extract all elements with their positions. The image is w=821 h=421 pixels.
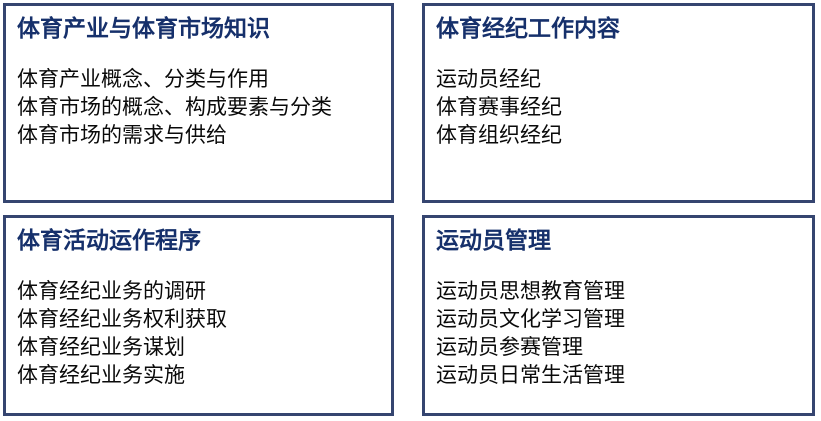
card-line: 体育经纪业务实施 [17,361,385,389]
card-grid: 体育产业与体育市场知识 体育产业概念、分类与作用 体育市场的概念、构成要素与分类… [0,0,821,421]
card-line-list: 运动员经纪 体育赛事经纪 体育组织经纪 [436,65,806,149]
card-title: 运动员管理 [436,226,551,256]
card-line: 体育经纪业务权利获取 [17,305,385,333]
card-line: 体育市场的需求与供给 [17,121,385,149]
card-line: 体育产业概念、分类与作用 [17,65,385,93]
card-line: 运动员文化学习管理 [436,305,806,333]
card-line-list: 运动员思想教育管理 运动员文化学习管理 运动员参赛管理 运动员日常生活管理 [436,277,806,389]
card-line: 体育市场的概念、构成要素与分类 [17,93,385,121]
card-line: 体育赛事经纪 [436,93,806,121]
card-line: 体育经纪业务的调研 [17,277,385,305]
card-title: 体育经纪工作内容 [436,14,620,44]
card-line: 运动员思想教育管理 [436,277,806,305]
card-line: 体育经纪业务谋划 [17,333,385,361]
card-line: 运动员经纪 [436,65,806,93]
card-line-list: 体育产业概念、分类与作用 体育市场的概念、构成要素与分类 体育市场的需求与供给 [17,65,385,149]
card-sports-industry-market-knowledge[interactable]: 体育产业与体育市场知识 体育产业概念、分类与作用 体育市场的概念、构成要素与分类… [3,3,394,203]
card-line: 运动员日常生活管理 [436,361,806,389]
card-line: 运动员参赛管理 [436,333,806,361]
card-title: 体育产业与体育市场知识 [17,14,270,44]
card-sports-broker-work-content[interactable]: 体育经纪工作内容 运动员经纪 体育赛事经纪 体育组织经纪 [422,3,815,203]
card-sports-activity-operation-procedure[interactable]: 体育活动运作程序 体育经纪业务的调研 体育经纪业务权利获取 体育经纪业务谋划 体… [3,215,394,416]
card-line-list: 体育经纪业务的调研 体育经纪业务权利获取 体育经纪业务谋划 体育经纪业务实施 [17,277,385,389]
card-athlete-management[interactable]: 运动员管理 运动员思想教育管理 运动员文化学习管理 运动员参赛管理 运动员日常生… [422,215,815,416]
card-title: 体育活动运作程序 [17,226,201,256]
card-line: 体育组织经纪 [436,121,806,149]
